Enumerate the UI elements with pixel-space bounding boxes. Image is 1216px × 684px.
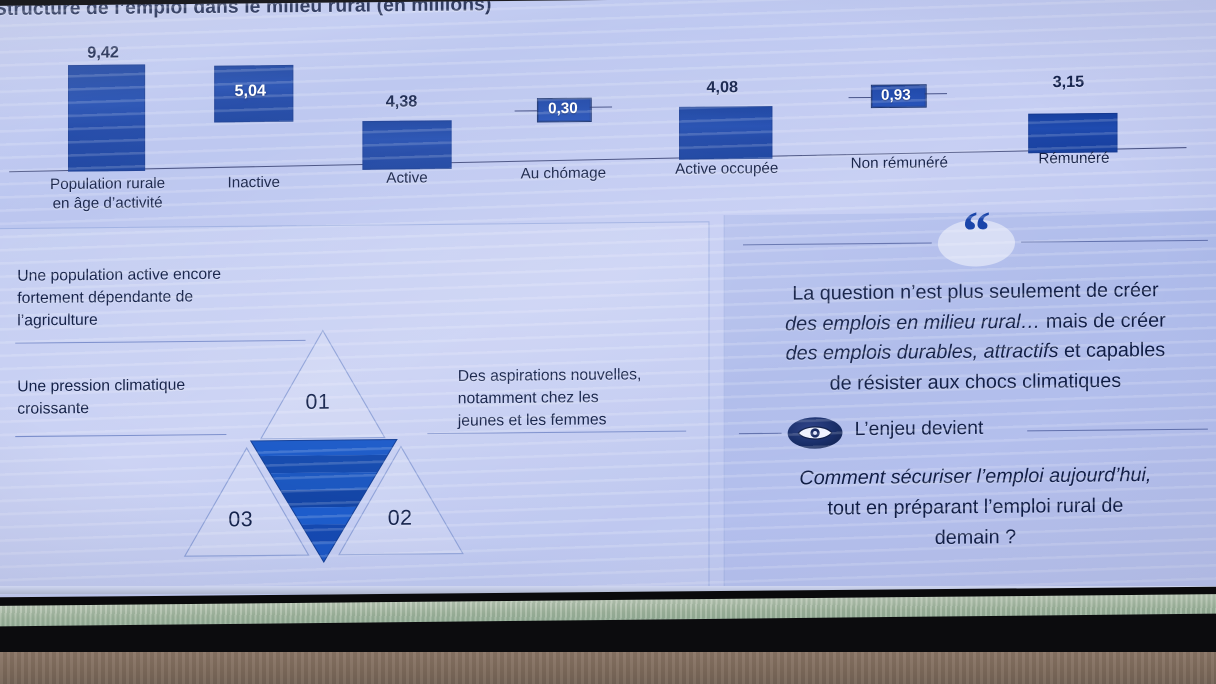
quote-line-3-rest: et capables: [1058, 339, 1165, 362]
triangle-01-outline: [258, 327, 388, 442]
question-line-3: demain ?: [935, 526, 1016, 549]
left-panel-item-3-line3: jeunes et les femmes: [458, 411, 607, 430]
quote-text: La question n’est plus seulement de crée…: [741, 275, 1210, 400]
left-panel-item-3-line2: notamment chez les: [458, 389, 599, 408]
chart-category-line2: en âge d’activité: [19, 194, 196, 215]
connector-chomage-left: [515, 110, 537, 111]
chart-category-remunere: Rémunéré: [1002, 149, 1146, 168]
quote-line-4: de résister aux chocs climatiques: [830, 369, 1122, 394]
wood-surface: [0, 652, 1216, 684]
left-panel-item-2-line2: croissante: [17, 400, 89, 418]
right-panel: “ La question n’est plus seulement de cr…: [724, 210, 1216, 595]
connector-chomage-right: [590, 107, 612, 108]
left-panel-item-1-text: Une population active encore fortement d…: [17, 263, 311, 333]
inverted-triangle-fill: [248, 437, 400, 564]
eye-icon: [788, 417, 843, 449]
chart-category-line1: Population rurale: [19, 174, 196, 195]
bar-value-non-remunere: 0,93: [878, 86, 914, 104]
question-text: Comment sécuriser l’emploi aujourd’hui, …: [741, 459, 1210, 556]
bar-active: [362, 120, 451, 170]
left-panel: Une population active encore fortement d…: [0, 221, 710, 599]
double-quote-icon: “: [938, 219, 1015, 266]
chart-category-active-occupee: Active occupée: [654, 160, 800, 179]
quote-line-3-emphasis: des emplois durables, attractifs: [786, 340, 1059, 365]
quote-rule-right: [1021, 240, 1208, 243]
bar-value-au-chomage: 0,30: [545, 100, 581, 118]
bar-population-rurale: [68, 64, 145, 171]
chart-category-population-rurale: Population rurale en âge d’activité: [19, 174, 196, 214]
photo-of-projected-slide: Structure de l’emploi dans le milieu rur…: [0, 0, 1216, 684]
enjeu-label: L’enjeu devient: [855, 418, 984, 442]
left-panel-item-1-line1: Une population active encore: [17, 266, 221, 285]
left-panel-rule-2: [15, 434, 226, 437]
enjeu-rule-left: [739, 433, 782, 434]
quote-rule-left: [743, 243, 932, 246]
connector-non-remunere-left: [849, 97, 871, 98]
connector-non-remunere-right: [925, 93, 947, 94]
slide-surface: Structure de l’emploi dans le milieu rur…: [0, 0, 1216, 603]
quote-line-2-rest: mais de créer: [1040, 309, 1165, 333]
left-panel-item-3-line1: Des aspirations nouvelles,: [458, 366, 642, 385]
page-title: Structure de l’emploi dans le milieu rur…: [0, 0, 491, 21]
bar-value-population-rurale: 9,42: [87, 44, 119, 63]
bar-active-occupee: [679, 106, 772, 160]
enjeu-rule-right: [1027, 429, 1208, 432]
chart-category-au-chomage: Au chómage: [492, 164, 634, 183]
bar-value-remunere: 3,15: [1053, 74, 1085, 93]
question-line-1-emphasis: Comment sécuriser l’emploi aujourd’hui,: [799, 464, 1151, 490]
bar-value-inactive: 5,04: [234, 82, 266, 101]
quote-line-1: La question n’est plus seulement de crée…: [792, 279, 1158, 305]
left-panel-item-1-line2: fortement dépendante de: [17, 288, 193, 307]
left-panel-item-3-text: Des aspirations nouvelles, notamment che…: [458, 364, 691, 434]
waterfall-chart: 9,42 5,04 4,38 0,30 4,08 0,93 3,15: [0, 22, 1216, 201]
chart-category-inactive: Inactive: [183, 173, 325, 192]
chart-category-non-remunere: Non rémunéré: [827, 154, 971, 173]
bar-value-active-occupee: 4,08: [706, 79, 738, 98]
quote-line-2-emphasis: des emplois en milieu rural…: [785, 310, 1040, 335]
chart-category-active: Active: [336, 169, 478, 188]
bar-value-active: 4,38: [386, 93, 418, 112]
question-line-2: tout en préparant l’emploi rural de: [827, 495, 1123, 520]
bar-remunere: [1028, 113, 1117, 153]
triangle-01-number: 01: [306, 390, 331, 415]
left-panel-item-2-line1: Une pression climatique: [17, 377, 185, 396]
left-panel-item-1-line3: l’agriculture: [17, 312, 97, 330]
enjeu-row: L’enjeu devient: [725, 409, 1216, 454]
